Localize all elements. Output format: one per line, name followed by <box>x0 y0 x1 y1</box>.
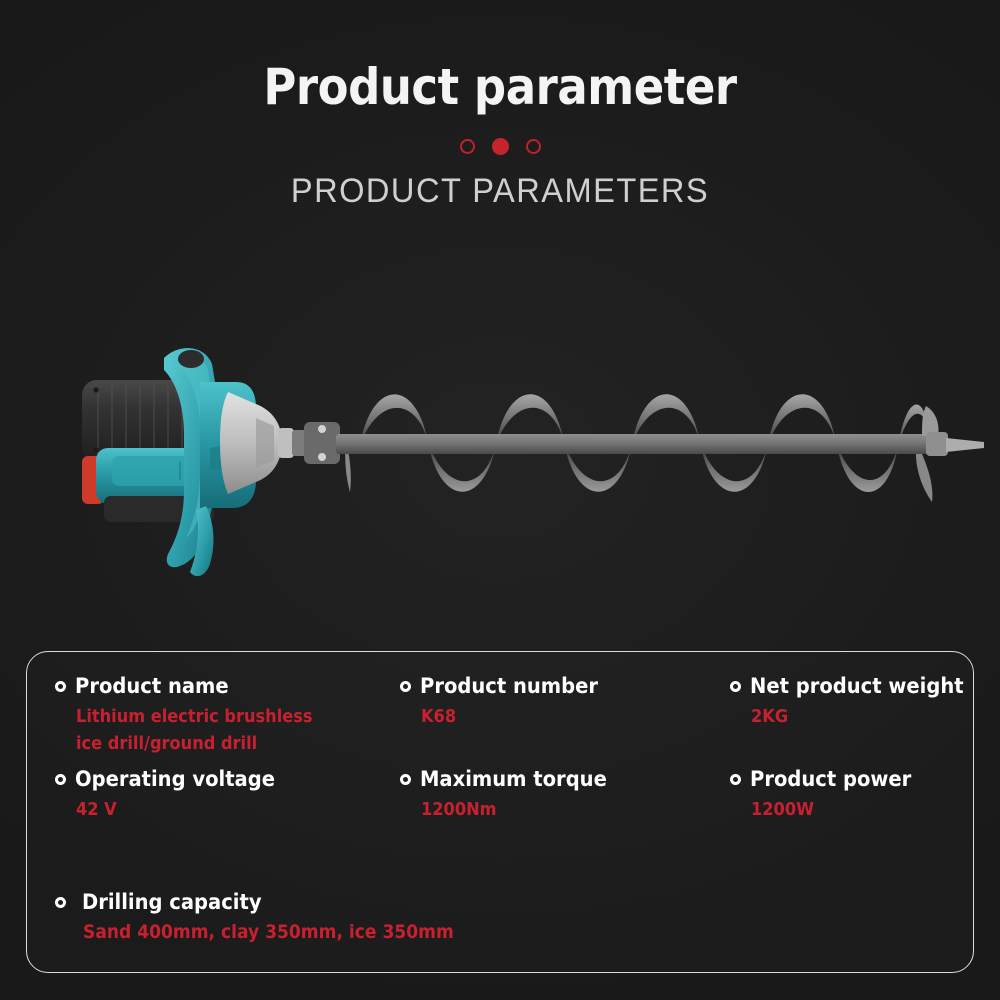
spec-cell-maximum-torque: Maximum torque 1200Nm <box>400 763 730 829</box>
dot-indicator-3 <box>526 139 541 154</box>
product-image <box>60 330 990 620</box>
spec-value: 42 V <box>76 796 368 823</box>
page-title: Product parameter <box>50 58 950 116</box>
page-header: Product parameter PRODUCT PARAMETERS <box>0 58 1000 211</box>
dot-indicator-2 <box>492 138 509 155</box>
spec-label-row: Maximum torque <box>400 767 730 791</box>
spec-cell-product-number: Product number K68 <box>400 674 730 763</box>
spec-label-row: Product name <box>55 674 400 698</box>
spec-grid: Product name Lithium electric brushless … <box>55 674 955 829</box>
bullet-icon <box>55 774 66 785</box>
page-background: Product parameter PRODUCT PARAMETERS <box>0 0 1000 1000</box>
spec-cell-product-power: Product power 1200W <box>730 763 980 829</box>
spec-value: 1200W <box>751 796 957 823</box>
gearbox <box>220 392 294 494</box>
auger-shaft <box>336 434 932 454</box>
spec-label: Net product weight <box>750 674 964 698</box>
spec-value: Sand 400mm, clay 350mm, ice 350mm <box>83 919 454 946</box>
spec-cell-net-weight: Net product weight 2KG <box>730 674 980 763</box>
spec-value: 2KG <box>751 703 957 730</box>
spec-label: Product number <box>420 674 598 698</box>
spec-label-row: Net product weight <box>730 674 980 698</box>
spec-label-row: Product power <box>730 767 980 791</box>
spec-label: Drilling capacity <box>82 890 262 914</box>
bullet-icon <box>730 681 741 692</box>
spec-label-row: Product number <box>400 674 730 698</box>
spec-cell-product-name: Product name Lithium electric brushless … <box>55 674 400 763</box>
spec-value: 1200Nm <box>421 796 699 823</box>
bullet-icon <box>400 774 411 785</box>
spec-label: Maximum torque <box>420 767 607 791</box>
spec-cell-drilling-capacity: Drilling capacity Sand 400mm, clay 350mm… <box>83 890 495 946</box>
spec-table: Product name Lithium electric brushless … <box>26 651 974 973</box>
spec-cell-operating-voltage: Operating voltage 42 V <box>55 763 400 829</box>
dot-indicator-group <box>0 136 1000 156</box>
spec-label: Product name <box>75 674 229 698</box>
page-subtitle: PRODUCT PARAMETERS <box>20 172 980 211</box>
bullet-icon <box>400 681 411 692</box>
spec-label: Product power <box>750 767 911 791</box>
bullet-icon <box>730 774 741 785</box>
dot-indicator-1 <box>460 139 475 154</box>
spec-label-row: Drilling capacity <box>55 890 495 914</box>
shaft-connector <box>292 422 340 464</box>
bullet-icon <box>55 897 66 908</box>
spec-label: Operating voltage <box>75 767 275 791</box>
spec-value: Lithium electric brushless ice drill/gro… <box>76 703 368 757</box>
bullet-icon <box>55 681 66 692</box>
spec-label-row: Operating voltage <box>55 767 400 791</box>
spec-value: K68 <box>421 703 699 730</box>
